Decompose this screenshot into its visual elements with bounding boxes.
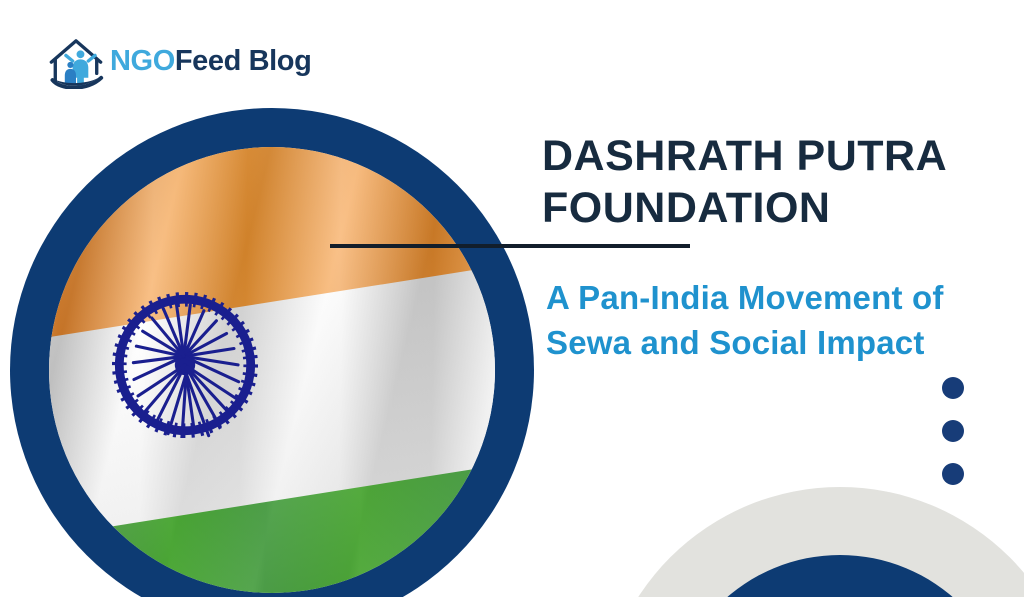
page-title: DASHRATH PUTRA FOUNDATION bbox=[542, 130, 982, 234]
poster-canvas: DASHRATH PUTRA FOUNDATION A Pan-India Mo… bbox=[0, 0, 1024, 597]
brand-name-secondary: Feed Blog bbox=[175, 45, 312, 77]
house-family-hand-icon bbox=[48, 33, 104, 89]
brand-name: NGOFeed Blog bbox=[110, 45, 311, 78]
title-divider bbox=[330, 244, 690, 248]
ashoka-chakra-icon bbox=[112, 292, 258, 438]
india-flag-image bbox=[49, 147, 495, 593]
brand-logo[interactable]: NGOFeed Blog bbox=[48, 33, 311, 89]
decorative-dot bbox=[942, 420, 964, 442]
decorative-dots bbox=[942, 377, 964, 485]
decorative-dot bbox=[942, 377, 964, 399]
brand-name-primary: NGO bbox=[110, 45, 175, 77]
page-subtitle: A Pan-India Movement of Sewa and Social … bbox=[546, 276, 976, 366]
decorative-dot bbox=[942, 463, 964, 485]
